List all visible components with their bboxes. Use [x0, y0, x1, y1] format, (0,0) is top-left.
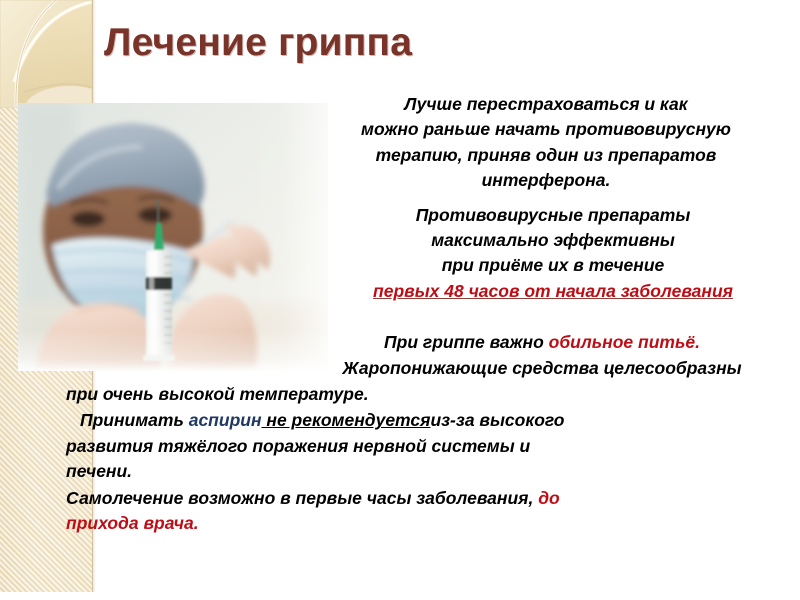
para1-line2: можно раньше начать противовирусную: [361, 119, 731, 139]
highlight-48-hours: первых 48 часов от начала заболевания: [373, 281, 733, 301]
para5-seg1: Принимать: [80, 410, 189, 430]
para2-line3: при приёме их в течение: [442, 255, 665, 275]
paragraph-aspirin-warning: Принимать аспирин не рекомендуетсяиз-за …: [66, 408, 788, 484]
slide-body-text: Лучше перестраховаться и как можно раньш…: [66, 92, 788, 537]
presentation-slide: Лечение гриппа Лучше перестраховаться и …: [0, 0, 800, 600]
paragraph-self-treatment: Самолечение возможно в первые часы забол…: [66, 486, 788, 537]
para5-seg4: из-за высокого: [430, 410, 564, 430]
para5-line2: развития тяжёлого поражения нервной сист…: [66, 436, 530, 456]
para5-line3: печени.: [66, 461, 132, 481]
paragraph-high-temperature: при очень высокой температуре.: [66, 382, 788, 407]
para3-line2: Жаропонижающие средства целесообразны: [342, 358, 741, 378]
para6-seg1: Самолечение возможно в первые часы забол…: [66, 488, 538, 508]
para1-line3: терапию, приняв один из препаратов: [376, 145, 717, 165]
highlight-until-doctor-1: до: [538, 488, 560, 508]
highlight-not-recommended: не рекомендуется: [262, 410, 431, 430]
paragraph-antiviral-therapy: Лучше перестраховаться и как можно раньш…: [66, 92, 788, 194]
paragraph-fluids-and-antipyretics: При гриппе важно обильное питьё. Жаропон…: [66, 330, 788, 381]
para2-line2: максимально эффективны: [431, 230, 675, 250]
paragraph-effectiveness-window: Противовирусные препараты максимально эф…: [66, 203, 788, 305]
para2-line1: Противовирусные препараты: [416, 205, 691, 225]
page-title: Лечение гриппа: [104, 21, 744, 65]
highlight-until-doctor-2: прихода врача.: [66, 513, 199, 533]
highlight-aspirin: аспирин: [189, 410, 262, 430]
para4-line1: при очень высокой температуре.: [66, 384, 369, 404]
para1-line4: интерферона.: [482, 170, 611, 190]
para3-lead: При гриппе важно: [384, 332, 549, 352]
highlight-drink-fluids: обильное питьё.: [549, 332, 700, 352]
para1-line1: Лучше перестраховаться и как: [404, 94, 687, 114]
